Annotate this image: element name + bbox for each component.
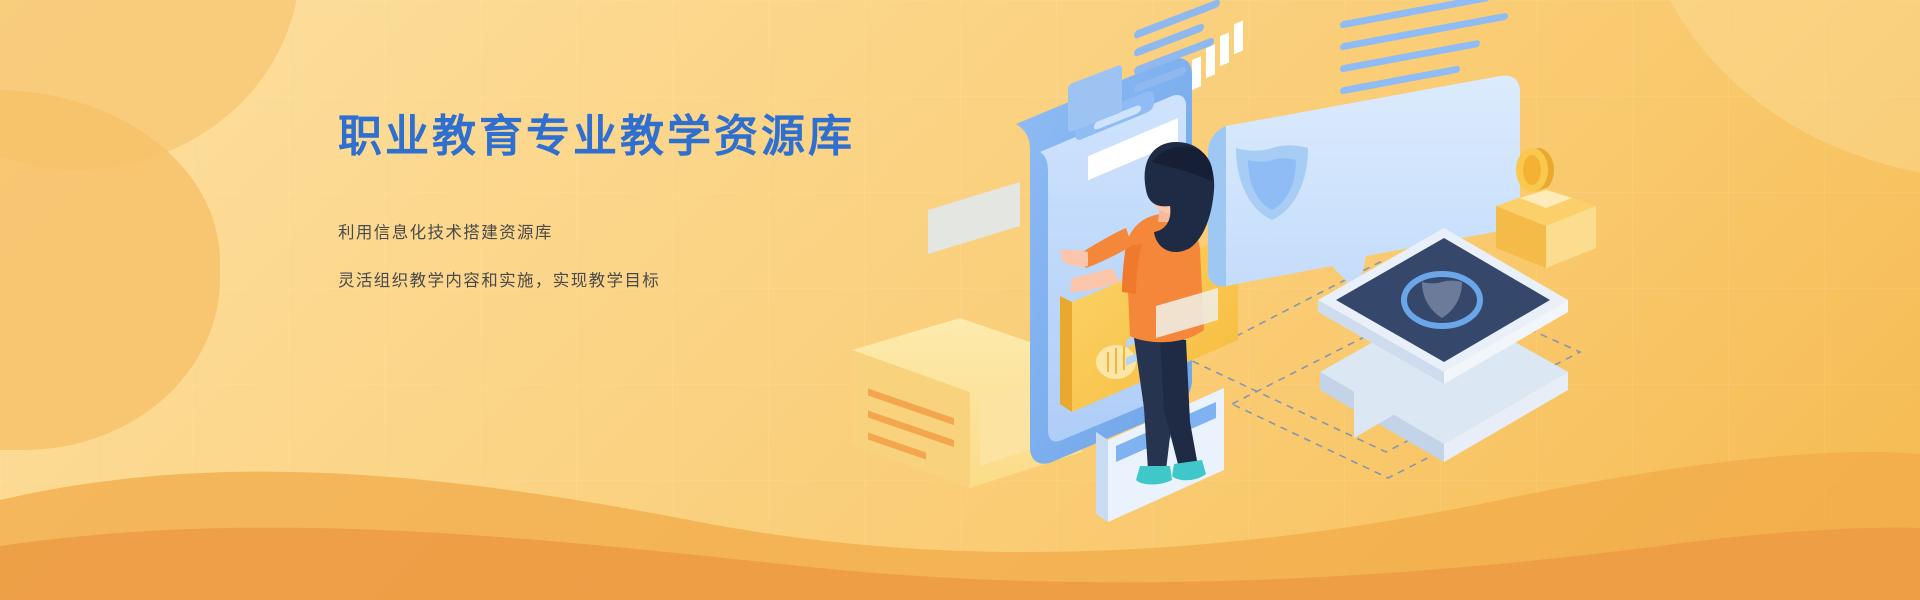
lock-shield-icon xyxy=(1404,274,1480,326)
coin xyxy=(1516,148,1554,192)
hero-banner: 职业教育专业教学资源库 利用信息化技术搭建资源库 灵活组织教学内容和实施，实现教… xyxy=(0,0,1920,600)
floating-panel-left xyxy=(928,182,1020,254)
hero-illustration xyxy=(820,0,1920,600)
